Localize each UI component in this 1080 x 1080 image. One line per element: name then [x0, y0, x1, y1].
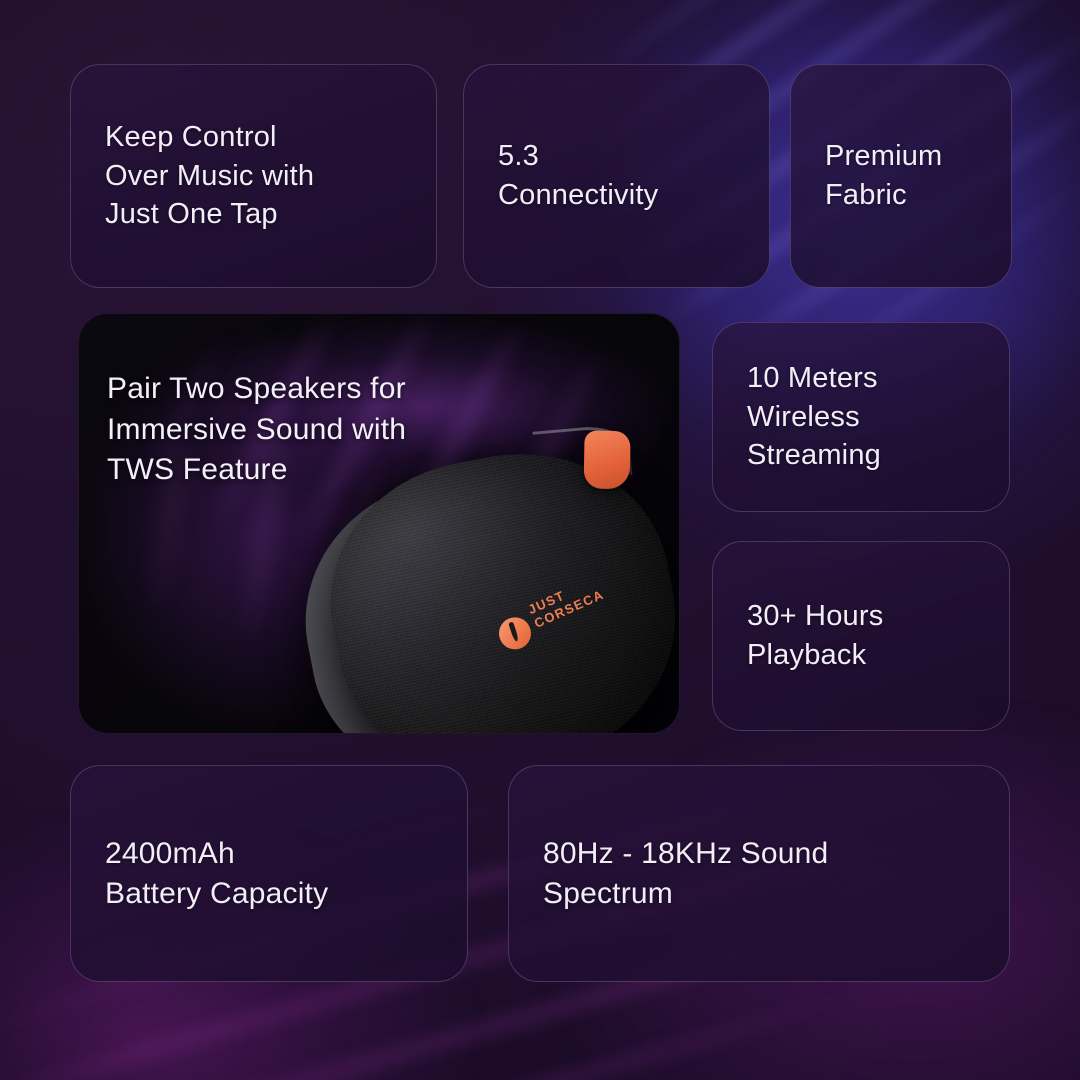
feature-card-playback-hours-label: 30+ Hours Playback: [747, 597, 883, 674]
feature-card-battery-capacity-label: 2400mAh Battery Capacity: [105, 834, 328, 914]
feature-card-one-tap-control-label: Keep Control Over Music with Just One Ta…: [105, 118, 314, 234]
feature-card-one-tap-control: Keep Control Over Music with Just One Ta…: [70, 64, 437, 288]
feature-card-wireless-range-label: 10 Meters Wireless Streaming: [747, 359, 881, 475]
hero-product-card: Pair Two Speakers for Immersive Sound wi…: [78, 313, 680, 734]
feature-card-wireless-range: 10 Meters Wireless Streaming: [712, 322, 1010, 512]
feature-card-sound-spectrum: 80Hz - 18KHz Sound Spectrum: [508, 765, 1010, 982]
feature-card-sound-spectrum-label: 80Hz - 18KHz Sound Spectrum: [543, 834, 828, 914]
speaker-orange-strap-tab: [584, 430, 631, 489]
hero-title: Pair Two Speakers for Immersive Sound wi…: [107, 369, 406, 491]
product-feature-graphic: Keep Control Over Music with Just One Ta…: [0, 0, 1080, 1080]
feature-card-playback-hours: 30+ Hours Playback: [712, 541, 1010, 731]
feature-card-battery-capacity: 2400mAh Battery Capacity: [70, 765, 468, 982]
feature-card-bluetooth-connectivity-label: 5.3 Connectivity: [498, 137, 658, 214]
feature-card-bluetooth-connectivity: 5.3 Connectivity: [463, 64, 770, 288]
feature-card-premium-fabric-label: Premium Fabric: [825, 137, 942, 214]
feature-card-premium-fabric: Premium Fabric: [790, 64, 1012, 288]
